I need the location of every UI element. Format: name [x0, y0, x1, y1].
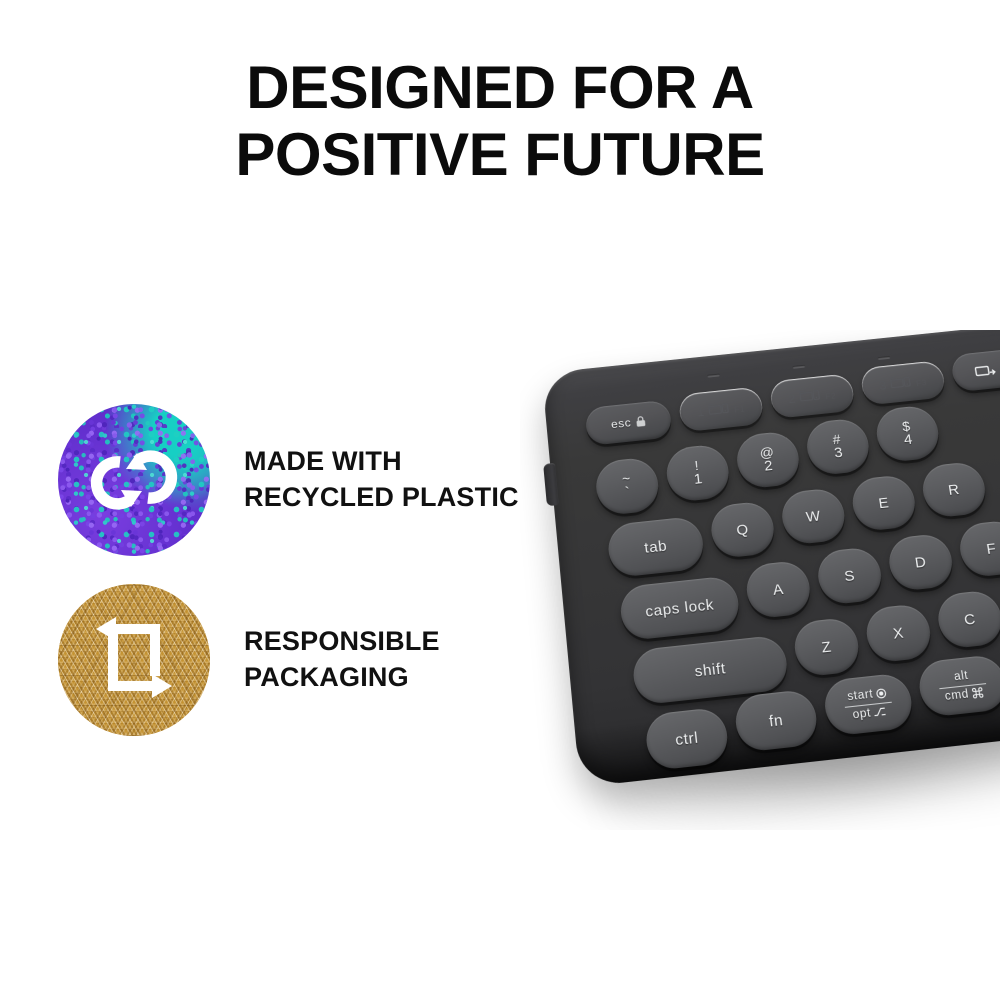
key-z[interactable]: Z [792, 617, 862, 678]
feature-label-recycled-plastic: MADE WITH RECYCLED PLASTIC [244, 444, 519, 515]
recycling-loop-icon [58, 404, 210, 556]
key-esc-label: esc [611, 417, 632, 430]
key-tilde[interactable]: ~ ` [594, 456, 661, 516]
keyboard-product-image: esc 1 [520, 330, 1000, 830]
key-c-label: C [963, 611, 977, 627]
device-switch-icon [799, 389, 822, 404]
key-f1-sub: F1 [734, 404, 746, 414]
key-a-label: A [772, 581, 785, 597]
key-e[interactable]: E [850, 474, 919, 533]
key-e-label: E [877, 495, 890, 511]
recycled-plastic-badge [58, 404, 210, 556]
feature-label-line-2: RECYCLED PLASTIC [244, 480, 519, 516]
key-2-lower: 2 [763, 459, 774, 475]
feature-label-line-1: RESPONSIBLE [244, 624, 440, 660]
windows-start-icon [876, 688, 888, 699]
key-s-label: S [843, 568, 856, 584]
key-1[interactable]: ! 1 [664, 443, 731, 503]
key-r-label: R [947, 482, 960, 498]
key-1-lower: 1 [693, 472, 704, 488]
key-tab[interactable]: tab [606, 516, 706, 579]
key-q-label: Q [736, 522, 750, 538]
key-caps-lock-label: caps lock [645, 597, 715, 619]
key-f1-number: 1 [696, 404, 705, 419]
packaging-recycle-icon [58, 584, 210, 736]
device-switch-icon [708, 402, 731, 417]
key-start-opt[interactable]: start opt [822, 672, 915, 737]
key-start-label: start [847, 689, 875, 704]
key-f2-sub: F2 [825, 390, 837, 400]
key-w-label: W [805, 508, 822, 524]
key-esc[interactable]: esc [584, 400, 672, 446]
device-switch-icon [890, 375, 913, 390]
feature-recycled-plastic: MADE WITH RECYCLED PLASTIC [58, 398, 578, 562]
lock-icon [634, 415, 646, 427]
page-title: DESIGNED FOR A POSITIVE FUTURE [0, 54, 1000, 188]
key-shift-label: shift [694, 661, 727, 680]
key-f2-number: 2 [787, 391, 796, 406]
keyboard: esc 1 [542, 330, 1000, 787]
key-opt-label: opt [852, 707, 872, 721]
key-x-label: X [892, 625, 905, 641]
key-a[interactable]: A [744, 559, 813, 619]
key-x[interactable]: X [863, 603, 933, 664]
key-fn-label: fn [768, 712, 784, 729]
screenshot-icon [974, 363, 997, 378]
feature-list: MADE WITH RECYCLED PLASTIC RESPO [58, 398, 578, 742]
key-f3-number: 3 [878, 377, 888, 392]
key-caps-lock[interactable]: caps lock [618, 575, 741, 641]
key-ctrl-label: ctrl [675, 730, 700, 748]
command-icon [971, 687, 984, 699]
key-f1[interactable]: 1 F1 [678, 386, 765, 432]
key-d-label: D [914, 554, 928, 570]
key-cmd-label: cmd [944, 688, 970, 703]
key-f3[interactable]: 3 F3 [860, 360, 947, 406]
key-f4[interactable]: F4 [950, 347, 1000, 392]
key-f-label: F [985, 541, 997, 557]
feature-label-line-1: MADE WITH [244, 444, 519, 480]
key-4-lower: 4 [903, 433, 914, 449]
key-f[interactable]: F [957, 519, 1000, 578]
feature-responsible-packaging: RESPONSIBLE PACKAGING [58, 578, 578, 742]
feature-label-responsible-packaging: RESPONSIBLE PACKAGING [244, 624, 440, 695]
key-tab-label: tab [644, 538, 668, 555]
feature-label-line-2: PACKAGING [244, 660, 440, 696]
key-alt-cmd[interactable]: alt cmd [916, 654, 1000, 718]
key-d[interactable]: D [886, 533, 956, 593]
key-tilde-lower: ` [624, 485, 631, 501]
key-4[interactable]: $ 4 [873, 404, 941, 463]
key-fn[interactable]: fn [733, 689, 820, 753]
responsible-packaging-badge [58, 584, 210, 736]
headline-line-2: POSITIVE FUTURE [0, 121, 1000, 188]
key-f2[interactable]: 2 F2 [769, 373, 856, 419]
key-c[interactable]: C [935, 589, 1000, 650]
key-2[interactable]: @ 2 [734, 430, 802, 490]
key-f3-sub: F3 [915, 377, 927, 387]
key-ctrl[interactable]: ctrl [644, 707, 730, 772]
headline-line-1: DESIGNED FOR A [0, 54, 1000, 121]
key-q[interactable]: Q [709, 500, 777, 559]
key-w[interactable]: W [779, 487, 847, 546]
key-r[interactable]: R [920, 461, 989, 519]
key-3[interactable]: # 3 [804, 417, 872, 476]
key-3-lower: 3 [833, 446, 844, 462]
option-icon [873, 707, 887, 718]
key-grid: esc 1 [542, 330, 1000, 787]
key-s[interactable]: S [815, 546, 884, 606]
key-z-label: Z [821, 639, 833, 655]
key-alt-label: alt [953, 670, 969, 684]
